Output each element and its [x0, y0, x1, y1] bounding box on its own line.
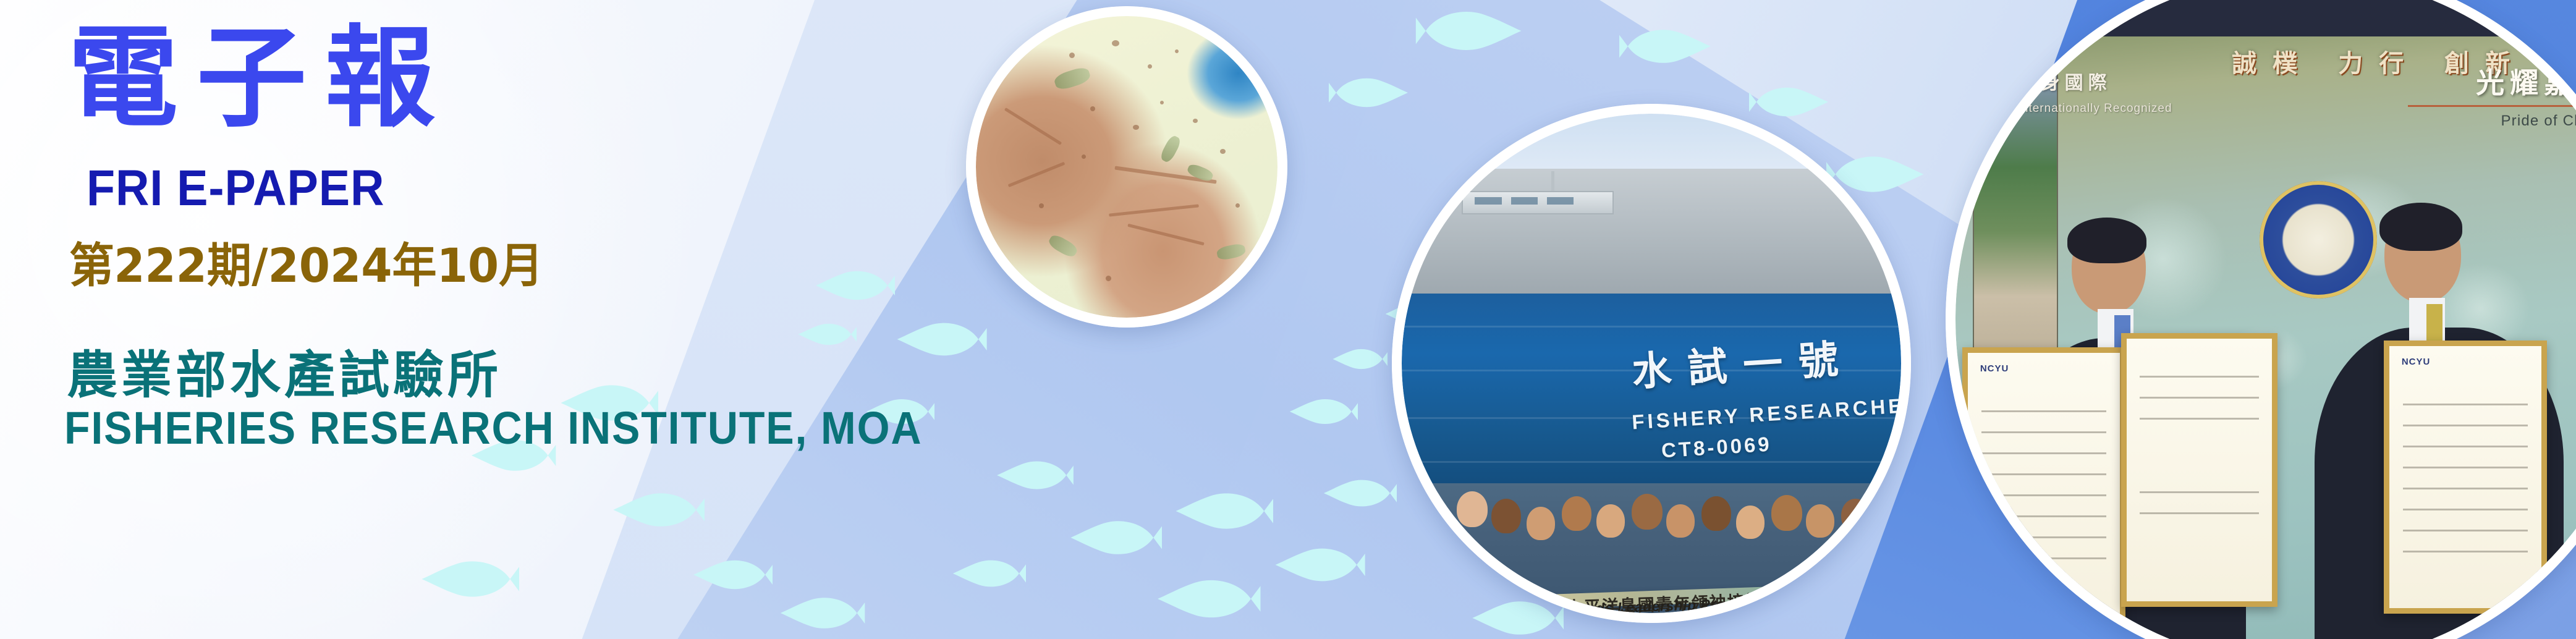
organization-name-en: FISHERIES RESEARCH INSTITUTE, MOA [64, 402, 922, 454]
ship-bridge [1462, 191, 1614, 214]
issue-number-date: 第222期/2024年10月 [69, 227, 543, 295]
masthead-text-block: 電子報 FRI E-PAPER 第222期/2024年10月 農業部水產試驗所 … [0, 0, 853, 639]
participant-group: 2024太平洋島國青年領袖培訓計畫 Pacific Islands Leader… [1402, 483, 1901, 613]
photo-mou-signing: 誠樸 力行 創新 服務 躋身國際 Internationally Recogni… [1946, 0, 2576, 639]
photo-plankton-micrograph [966, 6, 1287, 328]
photo-mou-inner: 誠樸 力行 創新 服務 躋身國際 Internationally Recogni… [1955, 0, 2576, 639]
backdrop-pride-en: Pride of Chiayi [2501, 112, 2576, 130]
ncyu-logo-text: NCYU [1980, 363, 2009, 374]
ncyu-logo-text: NCYU [2402, 357, 2431, 367]
backdrop-international-zh: 躋身國際 [2018, 67, 2112, 95]
masthead-title-en: FRI E-PAPER [87, 159, 384, 218]
fri-epaper-banner: 水試一號 FISHERY RESEARCHER 1 CT8-0069 [0, 0, 2576, 639]
photo-research-vessel-group: 水試一號 FISHERY RESEARCHER 1 CT8-0069 [1392, 104, 1911, 623]
mou-document-left: NCYU [1962, 347, 2125, 621]
photo-vessel-inner: 水試一號 FISHERY RESEARCHER 1 CT8-0069 [1402, 114, 1901, 613]
group-photo-banner: 2024太平洋島國青年領袖培訓計畫 Pacific Islands Leader… [1407, 583, 1896, 613]
backdrop-rule [2408, 105, 2576, 107]
ship-mast [1551, 171, 1554, 191]
mou-document-right: NCYU [2384, 341, 2547, 614]
mou-document-center [2121, 333, 2277, 607]
photo-plankton-inner [976, 16, 1277, 318]
ship-superstructure [1402, 169, 1901, 308]
backdrop-international-en: Internationally Recognized [2018, 102, 2172, 116]
pilp-wave-logo [1431, 599, 1482, 613]
masthead-title-zh: 電子報 [68, 23, 454, 133]
micrograph-field [976, 16, 1277, 318]
backdrop-pride-zh: 光耀嘉義 [2476, 61, 2576, 101]
organization-name-zh: 農業部水產試驗所 [67, 334, 502, 407]
